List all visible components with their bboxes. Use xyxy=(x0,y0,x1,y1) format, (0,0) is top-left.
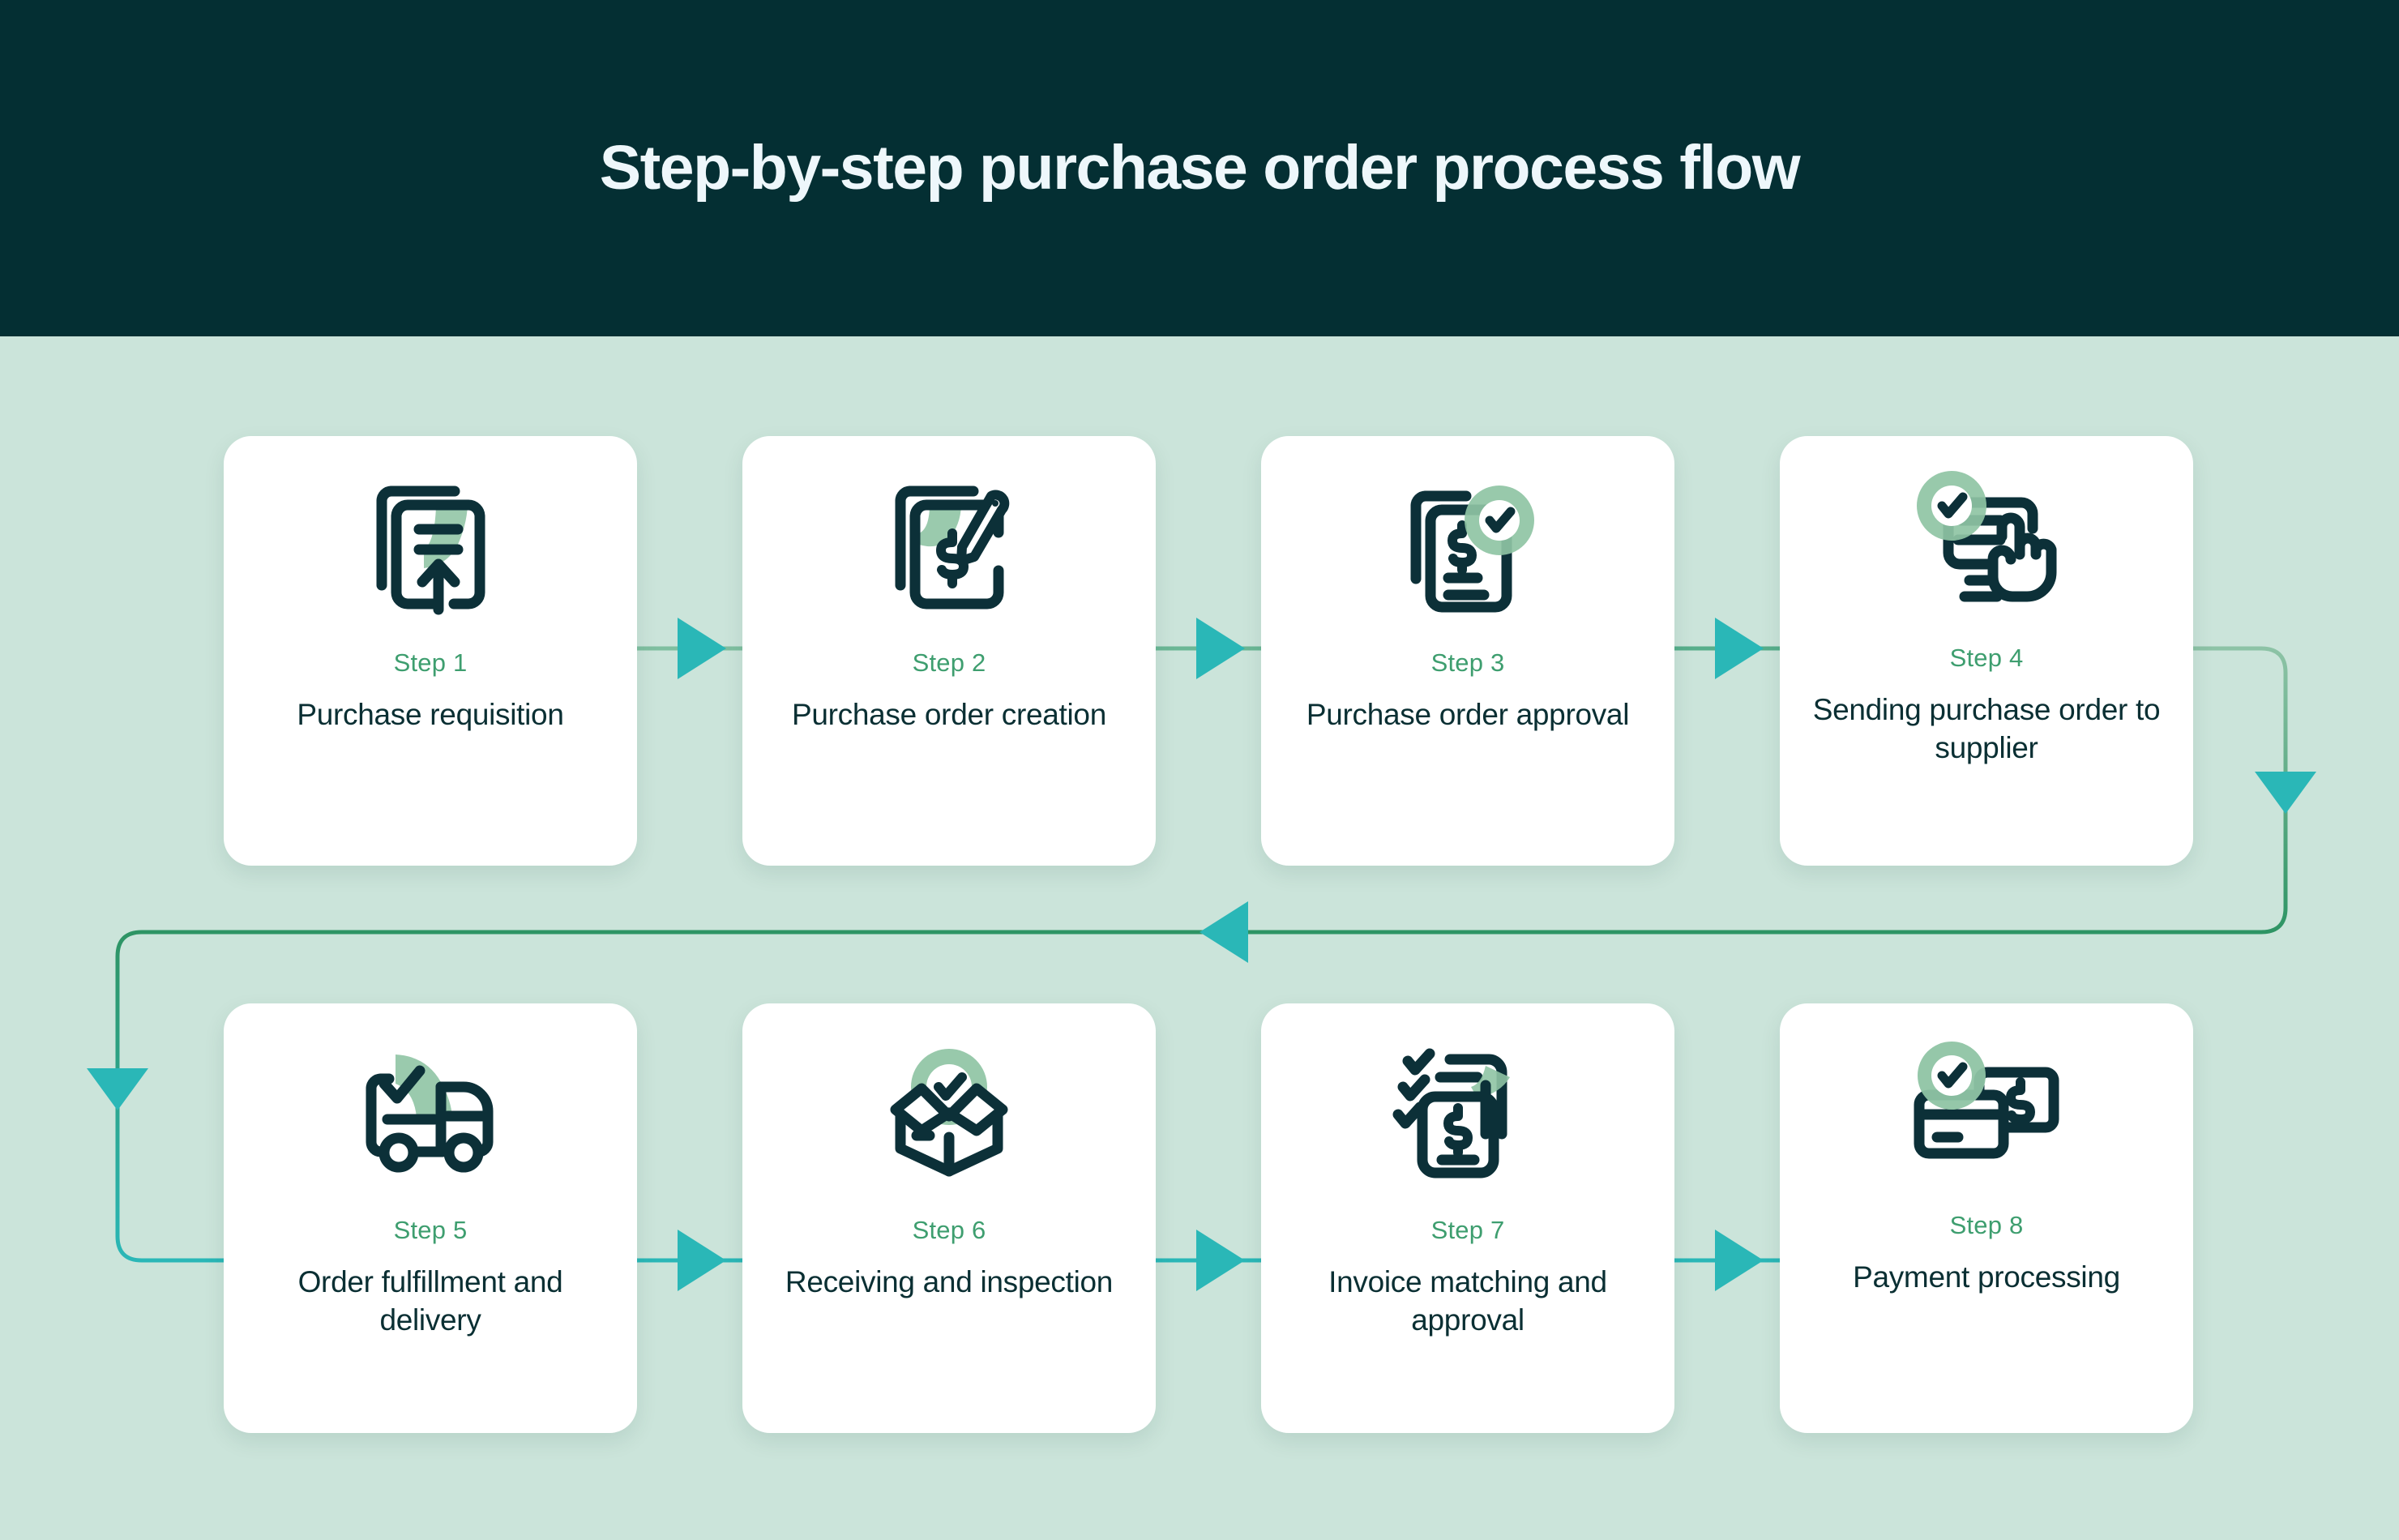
step-number-label: Step 8 xyxy=(1950,1211,2024,1240)
step-title: Sending purchase order to supplier xyxy=(1812,691,2161,768)
step-card-4[interactable]: Step 4 Sending purchase order to supplie… xyxy=(1780,436,2193,866)
step-card-7[interactable]: Step 7 Invoice matching and approval xyxy=(1261,1003,1674,1433)
step-title: Payment processing xyxy=(1853,1258,2120,1296)
step-number-label: Step 6 xyxy=(913,1216,986,1245)
credit-card-cash-check-icon xyxy=(1780,1003,2193,1216)
step-card-8[interactable]: Step 8 Payment processing xyxy=(1780,1003,2193,1433)
arrow-step1-to-step2 xyxy=(678,618,726,679)
infographic-page: Step-by-step purchase order process flow xyxy=(0,0,2399,1540)
header-banner: Step-by-step purchase order process flow xyxy=(0,0,2399,336)
screen-hand-pointer-check-icon xyxy=(1780,436,2193,648)
step-number-label: Step 1 xyxy=(394,648,468,678)
arrow-step4-down-right-wrap xyxy=(2255,772,2316,814)
step-card-5[interactable]: Step 5 Order fulfillment and delivery xyxy=(224,1003,637,1433)
page-title: Step-by-step purchase order process flow xyxy=(600,134,1799,203)
document-dollar-pencil-icon xyxy=(742,436,1156,648)
arrow-step3-to-step4 xyxy=(1715,618,1764,679)
step-number-label: Step 5 xyxy=(394,1216,468,1245)
step-title: Purchase requisition xyxy=(297,695,563,734)
arrow-step6-to-step7 xyxy=(1196,1230,1245,1291)
document-upload-icon xyxy=(224,436,637,648)
step-title: Purchase order creation xyxy=(792,695,1106,734)
step-title: Order fulfillment and delivery xyxy=(256,1263,605,1340)
arrow-row1-to-row2-return xyxy=(1199,901,1248,963)
step-card-3[interactable]: Step 3 Purchase order approval xyxy=(1261,436,1674,866)
arrow-step5-to-step6 xyxy=(678,1230,726,1291)
arrow-step7-to-step8 xyxy=(1715,1230,1764,1291)
step-card-6[interactable]: Step 6 Receiving and inspection xyxy=(742,1003,1156,1433)
document-dollar-check-icon xyxy=(1261,436,1674,648)
step-number-label: Step 7 xyxy=(1431,1216,1505,1245)
step-card-1[interactable]: Step 1 Purchase requisition xyxy=(224,436,637,866)
step-title: Purchase order approval xyxy=(1306,695,1629,734)
arrow-step2-to-step3 xyxy=(1196,618,1245,679)
arrow-wrap-down-to-step5 xyxy=(87,1068,148,1110)
step-number-label: Step 4 xyxy=(1950,644,2024,673)
step-number-label: Step 3 xyxy=(1431,648,1505,678)
step-card-2[interactable]: Step 2 Purchase order creation xyxy=(742,436,1156,866)
step-title: Receiving and inspection xyxy=(785,1263,1113,1301)
delivery-truck-check-icon xyxy=(224,1003,637,1216)
open-box-check-icon xyxy=(742,1003,1156,1216)
invoice-checkmarks-icon xyxy=(1261,1003,1674,1216)
step-number-label: Step 2 xyxy=(913,648,986,678)
step-title: Invoice matching and approval xyxy=(1294,1263,1642,1340)
